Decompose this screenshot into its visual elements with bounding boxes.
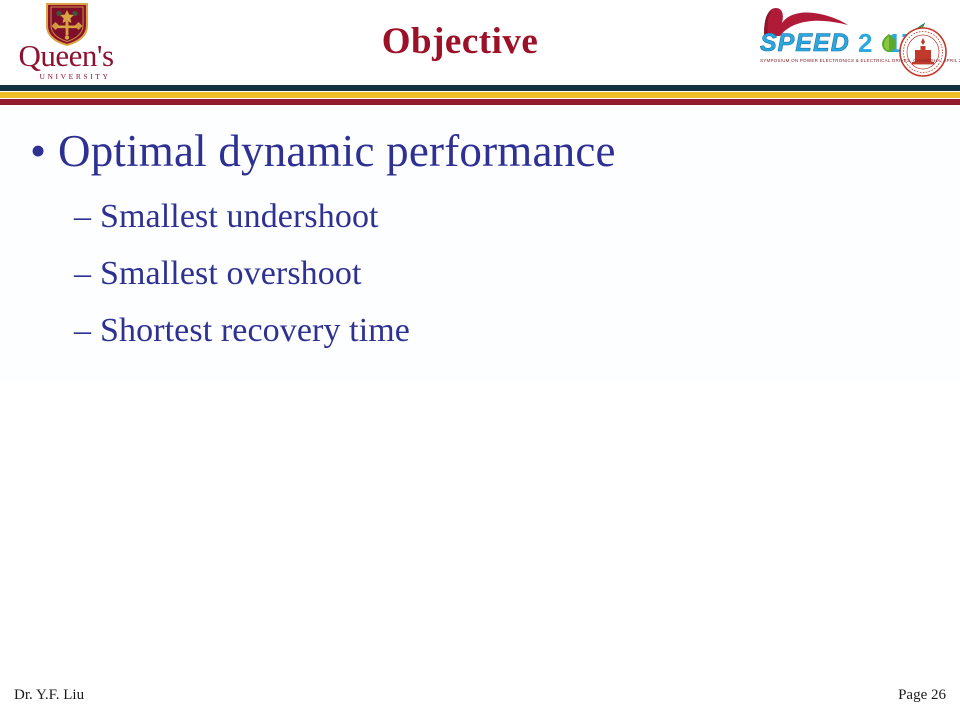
- speed-year-prefix: 2: [858, 28, 872, 58]
- slide: Queen's UNIVERSITY Objective SPEED 2017: [0, 0, 960, 720]
- leaf-icon: [880, 33, 898, 53]
- divider-bar-red: [0, 99, 960, 105]
- speed-acronym: SPEED: [760, 30, 850, 56]
- sub-bullet-text: Smallest undershoot: [100, 190, 379, 243]
- slide-header: Queen's UNIVERSITY Objective SPEED 2017: [0, 0, 960, 86]
- queens-wordmark-subtitle: UNIVERSITY: [6, 72, 126, 82]
- university-seal-icon: [898, 26, 948, 78]
- queens-wordmark: Queen's UNIVERSITY: [6, 40, 126, 82]
- bullet-dash-icon: –: [74, 190, 100, 243]
- main-bullet-item: • Optimal dynamic performance: [18, 122, 938, 180]
- main-bullet-text: Optimal dynamic performance: [58, 122, 616, 180]
- list-item: – Smallest overshoot: [74, 247, 934, 300]
- sub-bullet-text: Smallest overshoot: [100, 247, 362, 300]
- speed-subtitle: SYMPOSIUM ON POWER ELECTRONICS & ELECTRI…: [760, 58, 913, 64]
- bullet-dot-icon: •: [18, 122, 58, 180]
- page-title: Objective: [180, 20, 740, 64]
- footer-author: Dr. Y.F. Liu: [14, 686, 84, 704]
- sub-bullet-text: Shortest recovery time: [100, 304, 410, 357]
- bullet-dash-icon: –: [74, 247, 100, 300]
- speed-2017-logo: SPEED 2017: [754, 4, 950, 80]
- queens-university-logo: Queen's UNIVERSITY: [6, 2, 126, 80]
- slide-content: • Optimal dynamic performance – Smallest…: [0, 112, 960, 382]
- list-item: – Smallest undershoot: [74, 190, 934, 243]
- bullet-dash-icon: –: [74, 304, 100, 357]
- list-item: – Shortest recovery time: [74, 304, 934, 357]
- footer-page-number: Page 26: [898, 686, 946, 704]
- sub-bullet-list: – Smallest undershoot – Smallest oversho…: [74, 190, 934, 361]
- queens-wordmark-name: Queen's: [6, 40, 126, 71]
